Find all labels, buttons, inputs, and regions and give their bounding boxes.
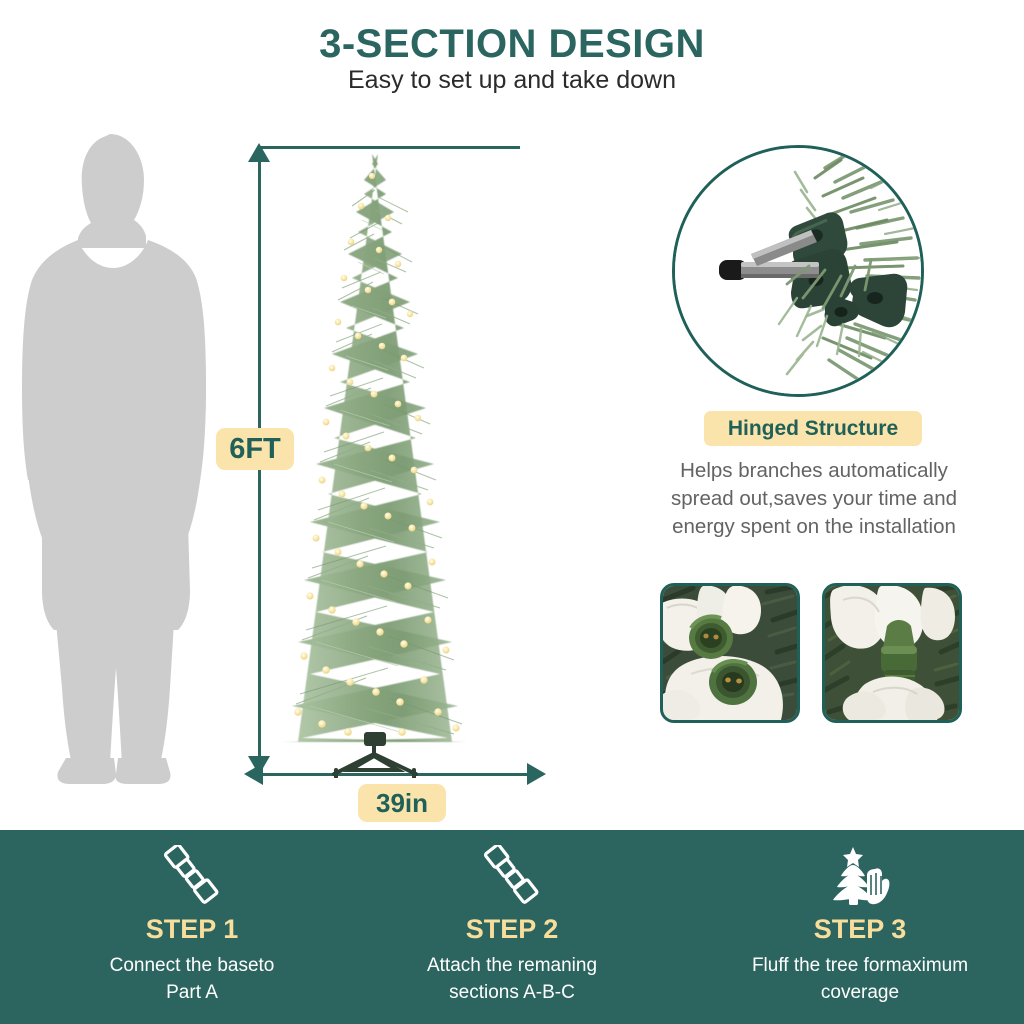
step-1: STEP 1 Connect the baseto Part A	[42, 830, 342, 1024]
gloved-hands-aligning-plug-photo	[660, 583, 800, 723]
pole-connector-icon	[42, 844, 342, 908]
hinged-structure-badge: Hinged Structure	[704, 411, 922, 446]
step-2-description: Attach the remaning sections A-B-C	[362, 952, 662, 1006]
description-line-1: Helps branches automatically	[640, 457, 988, 485]
step-3-desc-line-2: coverage	[710, 979, 1010, 1006]
pole-connector-icon	[362, 844, 662, 908]
steps-footer: STEP 1 Connect the baseto Part A	[0, 830, 1024, 1024]
step-2: STEP 2 Attach the remaning sections A-B-…	[362, 830, 662, 1024]
hinged-structure-description: Helps branches automatically spread out,…	[640, 457, 988, 541]
page-subtitle: Easy to set up and take down	[0, 66, 1024, 95]
width-badge: 39in	[358, 784, 446, 822]
page-title: 3-SECTION DESIGN	[0, 22, 1024, 67]
tree-fluff-hand-icon	[710, 844, 1010, 908]
step-1-description: Connect the baseto Part A	[42, 952, 342, 1006]
step-3: STEP 3 Fluff the tree formaximum coverag…	[710, 830, 1010, 1024]
pre-lit-slim-christmas-tree	[252, 150, 552, 778]
human-scale-silhouette	[18, 128, 233, 788]
step-3-description: Fluff the tree formaximum coverage	[710, 952, 1010, 1006]
step-3-title: STEP 3	[710, 914, 1010, 945]
hinge-mechanism-closeup-photo	[672, 145, 924, 397]
step-3-desc-line-1: Fluff the tree formaximum	[710, 952, 1010, 979]
step-2-desc-line-1: Attach the remaning	[362, 952, 662, 979]
step-2-desc-line-2: sections A-B-C	[362, 979, 662, 1006]
step-1-title: STEP 1	[42, 914, 342, 945]
description-line-3: energy spent on the installation	[640, 513, 988, 541]
gloved-hands-joining-plug-photo	[822, 583, 962, 723]
step-1-desc-line-1: Connect the baseto	[42, 952, 342, 979]
step-1-desc-line-2: Part A	[42, 979, 342, 1006]
infographic-page: 3-SECTION DESIGN Easy to set up and take…	[0, 0, 1024, 1024]
height-guide-line	[258, 146, 520, 149]
description-line-2: spread out,saves your time and	[640, 485, 988, 513]
step-2-title: STEP 2	[362, 914, 662, 945]
